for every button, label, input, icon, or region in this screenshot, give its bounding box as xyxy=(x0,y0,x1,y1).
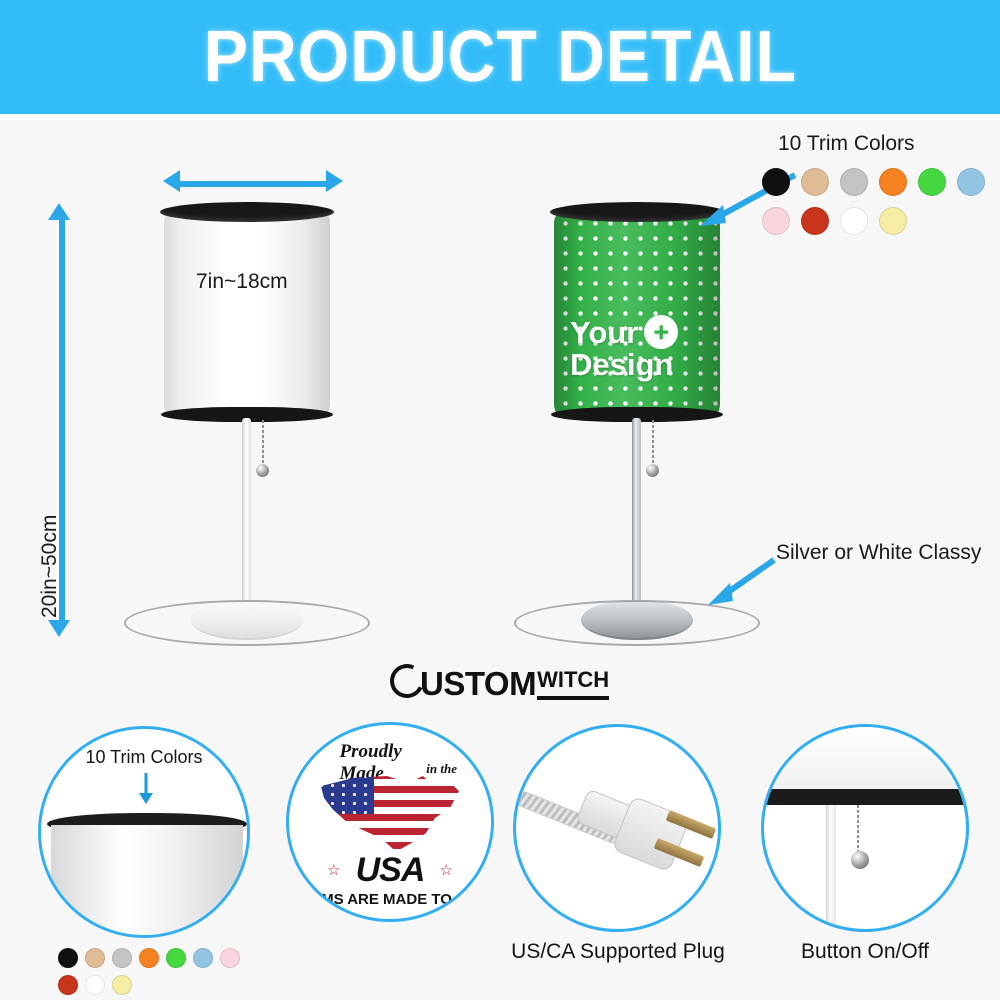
usa-star-right: ☆ xyxy=(440,861,453,879)
trim-swatch-green[interactable] xyxy=(166,948,186,968)
feature-circle-button xyxy=(761,724,969,932)
trim-swatch-yellow[interactable] xyxy=(879,207,907,235)
trim-swatch-gray[interactable] xyxy=(112,948,132,968)
feature-circle-plug xyxy=(513,724,721,932)
trim-swatch-light-blue[interactable] xyxy=(957,168,985,196)
shade-shading-overlay xyxy=(554,210,720,418)
your-design-placeholder: Your + Design xyxy=(570,315,678,380)
trim-top-white xyxy=(160,202,334,222)
down-arrow-icon xyxy=(133,771,159,805)
usa-map-flag xyxy=(315,771,465,855)
plus-icon: + xyxy=(644,315,678,349)
feature-trim-title: 10 Trim Colors xyxy=(85,747,202,768)
pull-chain-ball-white[interactable] xyxy=(256,464,269,477)
feature-plug-caption: US/CA Supported Plug xyxy=(503,940,733,964)
width-dimension-label: 7in~18cm xyxy=(196,270,288,294)
trim-swatch-white[interactable] xyxy=(85,975,105,995)
feature-trim-colors: 10 Trim Colors xyxy=(38,726,258,986)
trim-swatch-yellow[interactable] xyxy=(112,975,132,995)
trim-swatch-green[interactable] xyxy=(918,168,946,196)
logo-main-text: USTOM xyxy=(420,668,536,700)
trim-bar-detail xyxy=(764,789,969,805)
lamp-pole-white xyxy=(242,418,251,613)
shade-detail-white xyxy=(51,825,243,938)
pull-chain-detail[interactable] xyxy=(857,805,859,855)
lamp-shade-white xyxy=(164,210,330,418)
trim-swatch-pink[interactable] xyxy=(220,948,240,968)
power-cord-white xyxy=(124,600,370,646)
pull-chain-green[interactable] xyxy=(652,420,654,468)
usa-in-the-text: in the xyxy=(426,761,457,777)
trim-swatch-orange[interactable] xyxy=(879,168,907,196)
trim-swatch-dark-red[interactable] xyxy=(801,207,829,235)
lamp-white xyxy=(0,120,500,650)
trim-swatch-tan[interactable] xyxy=(801,168,829,196)
shade-bottom-detail xyxy=(764,727,969,793)
trim-swatch-orange[interactable] xyxy=(139,948,159,968)
trim-swatch-black[interactable] xyxy=(762,168,790,196)
trim-colors-swatches-top xyxy=(762,168,1000,240)
feature-circle-trim: 10 Trim Colors xyxy=(38,726,250,938)
logo-sub-text: WITCH xyxy=(537,665,609,700)
base-finish-arrow xyxy=(700,555,780,615)
feature-made-in-usa: Proudly Made in the ☆ USA ☆ ALL ITEMS AR… xyxy=(286,722,506,942)
pull-chain-ball-green[interactable] xyxy=(646,464,659,477)
feature-button-caption: Button On/Off xyxy=(755,940,975,964)
trim-colors-label-top: 10 Trim Colors xyxy=(778,132,915,156)
page-title: PRODUCT DETAIL xyxy=(203,16,796,98)
trim-swatch-tan[interactable] xyxy=(85,948,105,968)
usa-word: USA xyxy=(356,851,425,890)
base-finish-label: Silver or White Classy xyxy=(776,541,981,565)
pole-detail xyxy=(826,805,836,932)
trim-swatch-white[interactable] xyxy=(840,207,868,235)
lamp-pole-silver xyxy=(632,418,641,613)
trim-swatch-pink[interactable] xyxy=(762,207,790,235)
usa-bottom-text: ALL ITEMS ARE MADE TO ORDER! xyxy=(286,891,494,908)
usa-star-left: ☆ xyxy=(327,861,340,879)
page-header: PRODUCT DETAIL xyxy=(0,0,1000,114)
feature-circle-usa: Proudly Made in the ☆ USA ☆ ALL ITEMS AR… xyxy=(286,722,494,922)
main-stage: Your + Design 7in~18cm 20in~50cm xyxy=(0,120,1000,710)
brand-logo: USTOM WITCH xyxy=(390,664,609,700)
product-detail-page: PRODUCT DETAIL xyxy=(0,0,1000,1000)
feature-button-onoff: Button On/Off xyxy=(761,724,981,974)
lamp-shade-green: Your + Design xyxy=(554,210,720,418)
trim-swatch-gray[interactable] xyxy=(840,168,868,196)
design-line-1: Your xyxy=(570,317,638,348)
trim-colors-swatches-bottom xyxy=(58,948,258,998)
trim-swatch-light-blue[interactable] xyxy=(193,948,213,968)
trim-swatch-dark-red[interactable] xyxy=(58,975,78,995)
design-line-2: Design xyxy=(570,349,678,380)
pull-chain-ball-detail[interactable] xyxy=(851,851,869,869)
feature-plug: US/CA Supported Plug xyxy=(513,724,743,974)
pull-chain-white[interactable] xyxy=(262,420,264,468)
arrow-svg-2 xyxy=(700,555,780,615)
trim-swatch-black[interactable] xyxy=(58,948,78,968)
